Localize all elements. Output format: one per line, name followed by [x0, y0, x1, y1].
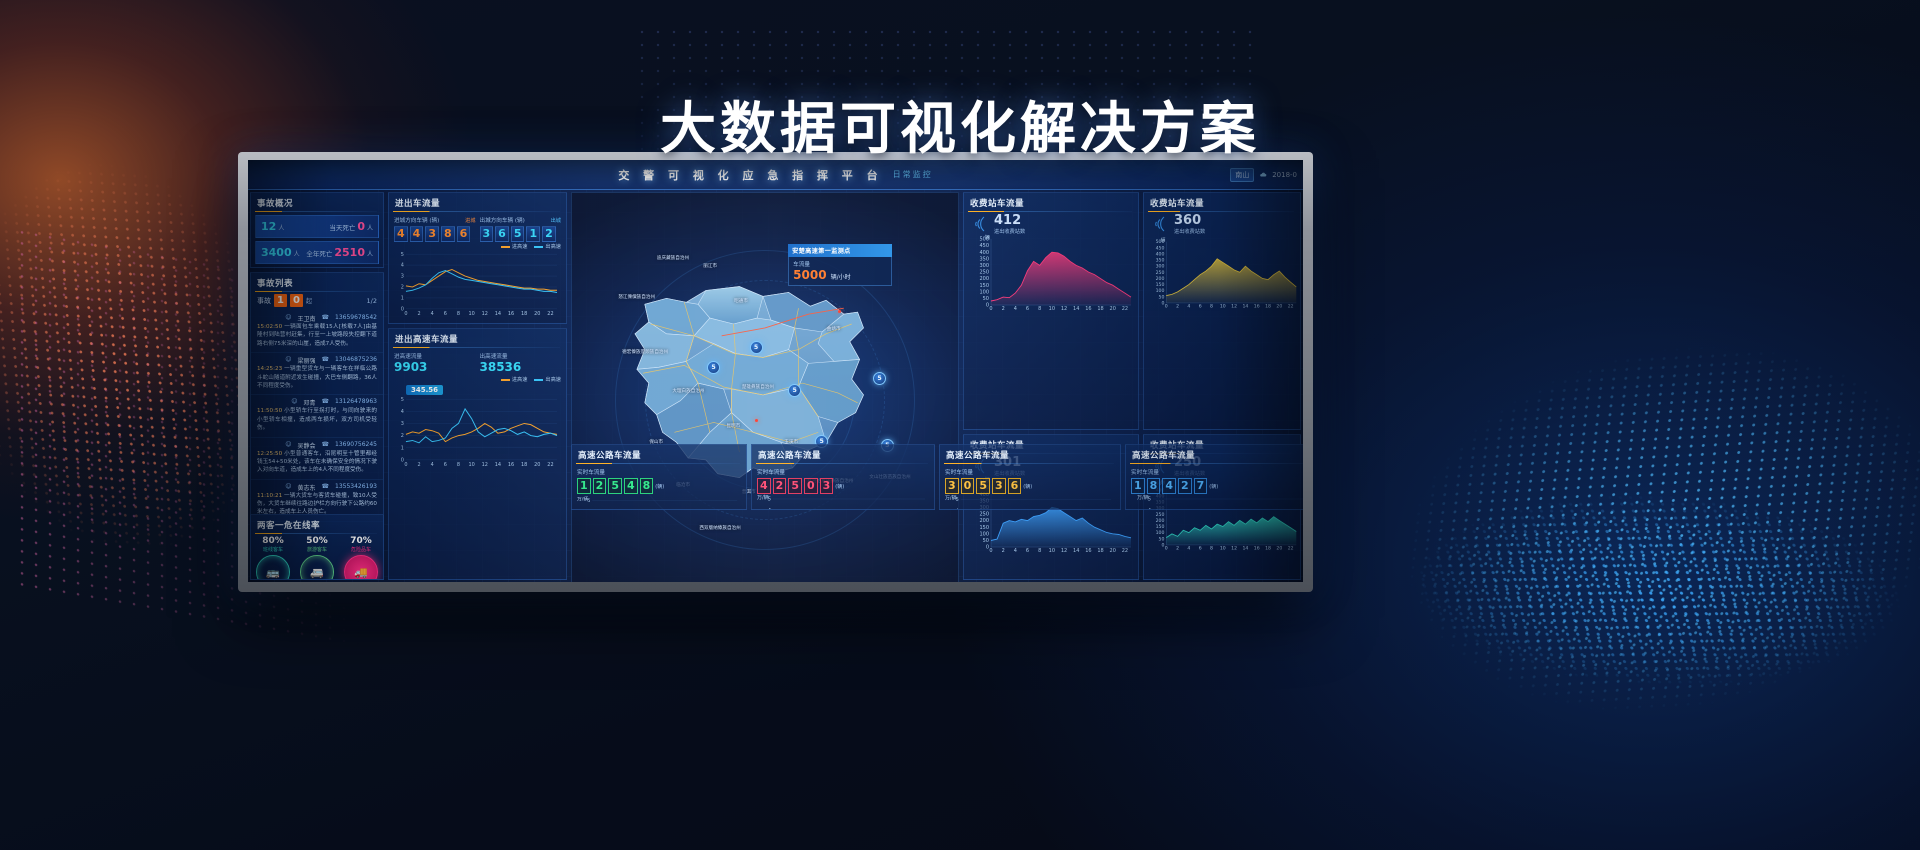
map-tooltip-unit: 辆/小时 — [831, 272, 851, 281]
person-icon: ☺ — [285, 314, 291, 323]
page-background: 大数据可视化解决方案 交 警 可 视 化 应 急 指 挥 平 台 日常监控 南山… — [0, 0, 1920, 850]
svg-text:0: 0 — [989, 306, 992, 312]
header-right-group: 南山 2018-0 — [1230, 168, 1297, 182]
dual-line-chart: 0123450246810121416182022 — [394, 250, 561, 320]
road-metric-label: 实时车流量 — [945, 468, 1115, 476]
svg-text:10: 10 — [1049, 306, 1055, 312]
od-digit: 8 — [441, 226, 455, 242]
decorative-dot-wave-right — [1318, 434, 1920, 767]
map-city-label: 昆明市 — [726, 423, 740, 429]
accident-phone: 13659678542 — [335, 314, 377, 323]
svg-text:6: 6 — [1026, 306, 1029, 312]
svg-text:16: 16 — [1254, 546, 1260, 552]
svg-text:16: 16 — [1254, 304, 1260, 310]
road-chart: 0123450246810121416182022万/辆 — [757, 495, 929, 510]
svg-text:50: 50 — [1159, 536, 1165, 542]
stat-unit2: 人 — [367, 249, 373, 258]
svg-text:万/辆: 万/辆 — [1137, 494, 1149, 501]
od-digit: 8 — [1147, 478, 1161, 494]
svg-text:100: 100 — [979, 289, 989, 295]
stat-year-injured: 3400 人 — [261, 246, 300, 259]
svg-text:16: 16 — [1085, 306, 1091, 312]
phone-icon: ☎ — [322, 398, 329, 407]
counter-value: 9903 — [394, 360, 476, 374]
legend-item-in: 进高速 — [501, 376, 528, 383]
svg-text:200: 200 — [1156, 276, 1165, 282]
bus-icon: 🚌 — [256, 555, 290, 580]
svg-text:50: 50 — [983, 538, 989, 544]
svg-text:50: 50 — [983, 296, 989, 302]
road-title: 高速公路车流量 — [752, 445, 934, 464]
counter-value: 38536 — [480, 360, 562, 374]
gauge-item[interactable]: 50% 旅游客车 🚐 旅游客车总数 6000 — [295, 536, 339, 580]
gauge-name: 旅游客车 — [295, 546, 339, 553]
road-unit: (辆) — [1023, 483, 1032, 490]
svg-text:22: 22 — [1288, 304, 1294, 310]
stat-row-today: 12 人 当天死亡 0 人 — [255, 215, 379, 238]
accident-item-head: ☺邓青☎13126478963 — [257, 398, 377, 407]
accident-count-row: 事故 1 0 起 1/2 — [251, 292, 383, 311]
gauge-name: 危险品车 — [339, 546, 383, 553]
road-odometer: 1 2 5 4 8 (辆) — [577, 478, 741, 494]
od-digit: 8 — [640, 478, 654, 494]
od-digit: 1 — [526, 226, 540, 242]
svg-text:0: 0 — [404, 311, 407, 317]
accident-item-text: 15:02:50 一辆面包车乘载15人[核载7人]由基隆村到陆营村赶集，行至一上… — [257, 323, 377, 348]
stat-label: 全年死亡 — [306, 248, 332, 258]
inout-legend: 进高速 出高速 — [394, 243, 561, 250]
svg-text:12: 12 — [1231, 304, 1237, 310]
svg-text:100: 100 — [1156, 530, 1165, 536]
svg-text:150: 150 — [979, 525, 989, 531]
map-city-label: 楚雄彝族自治州 — [742, 384, 774, 390]
od-digit: 2 — [773, 478, 787, 494]
coach-icon: 🚐 — [300, 555, 334, 580]
toll-value-group: 412 进出收费站数 — [994, 213, 1025, 235]
svg-text:12: 12 — [1061, 548, 1067, 554]
svg-text:0: 0 — [989, 548, 992, 554]
road-metric-label: 实时车流量 — [757, 468, 929, 476]
accident-item[interactable]: ☺梁丽强☎1304687523614:25:23 一辆重型货车与一辆客车在祥临公… — [251, 353, 383, 395]
road-panel-3: 高速公路车流量 实时车流量 3 0 5 3 6 (辆) 012345024681… — [939, 444, 1121, 510]
map-tooltip-row: 5000 辆/小时 — [793, 268, 887, 282]
svg-text:12: 12 — [482, 311, 488, 317]
counter-label: 出城方向车辆 (辆) — [480, 216, 525, 224]
svg-text:6: 6 — [444, 311, 447, 317]
svg-text:4: 4 — [956, 508, 959, 510]
svg-text:18: 18 — [1265, 546, 1271, 552]
map-marker[interactable]: 5 — [707, 361, 720, 374]
gauge-pct: 80% — [251, 536, 295, 546]
stat-unit: 人 — [294, 249, 300, 258]
svg-text:万/辆: 万/辆 — [757, 494, 769, 501]
od-digit: 5 — [511, 226, 525, 242]
road-panel-1: 高速公路车流量 实时车流量 1 2 5 4 8 (辆) 012345024681… — [571, 444, 747, 510]
svg-text:14: 14 — [1073, 548, 1079, 554]
decorative-dot-field-right — [1309, 285, 1920, 835]
truck-icon: 🚚 — [344, 555, 378, 580]
od-digit: 4 — [410, 226, 424, 242]
svg-text:20: 20 — [534, 311, 540, 317]
toll-sub: 进出收费站数 — [1174, 228, 1205, 235]
road-chart: 0123450246810121416182022万/辆 — [577, 495, 741, 510]
person-icon: ☺ — [285, 356, 291, 365]
gauge-name: 班线客车 — [251, 546, 295, 553]
road-odometer: 4 2 5 0 3 (辆) — [757, 478, 929, 494]
svg-text:150: 150 — [1156, 524, 1165, 530]
svg-text:14: 14 — [495, 311, 501, 317]
highway-counter-in: 进高速流量 9903 — [394, 352, 476, 374]
svg-text:10: 10 — [1220, 546, 1226, 552]
legend-item-in: 进高速 — [501, 243, 528, 250]
svg-text:10: 10 — [1220, 304, 1226, 310]
svg-text:4: 4 — [401, 409, 404, 415]
accident-item-head: ☺王卫南☎13659678542 — [257, 314, 377, 323]
stat-value: 12 — [261, 220, 276, 233]
area-chart: 0501001502002503003504004505000246810121… — [964, 235, 1138, 317]
toll-chart: 0501001502002503003504004505000246810121… — [1144, 235, 1300, 317]
svg-text:0: 0 — [1165, 304, 1168, 310]
map-tooltip-body: 车流量 5000 辆/小时 — [788, 257, 892, 286]
legend-item-out: 出高速 — [534, 376, 561, 383]
toll-value: 412 — [994, 213, 1025, 228]
gauge-pct: 50% — [295, 536, 339, 546]
svg-text:8: 8 — [457, 311, 460, 317]
svg-text:5: 5 — [401, 252, 404, 258]
city-chip[interactable]: 南山 — [1230, 168, 1254, 182]
svg-text:10: 10 — [468, 311, 474, 317]
svg-text:400: 400 — [979, 250, 989, 256]
header-date: 2018-0 — [1272, 171, 1297, 179]
svg-text:150: 150 — [1156, 282, 1165, 288]
svg-text:2: 2 — [1002, 548, 1005, 554]
svg-text:万/辆: 万/辆 — [945, 494, 957, 501]
counter-out-head: 出城方向车辆 (辆) 出城 — [480, 216, 562, 224]
svg-text:22: 22 — [1288, 546, 1294, 552]
svg-text:22: 22 — [547, 311, 553, 317]
svg-text:350: 350 — [979, 256, 989, 262]
svg-text:14: 14 — [1242, 546, 1248, 552]
signal-waves-icon — [968, 215, 990, 233]
od-digit: 2 — [593, 478, 607, 494]
svg-text:8: 8 — [1038, 306, 1041, 312]
bottom-spacer — [248, 442, 386, 512]
od-digit: 4 — [624, 478, 638, 494]
accident-count-digit-1: 1 — [274, 294, 287, 307]
map-city-label: 迪庆藏族自治州 — [657, 255, 689, 261]
svg-text:12: 12 — [1061, 306, 1067, 312]
svg-text:200: 200 — [979, 276, 989, 282]
od-digit: 3 — [820, 478, 834, 494]
od-digit: 3 — [992, 478, 1006, 494]
map-city-label: 丽江市 — [703, 263, 717, 269]
svg-text:200: 200 — [1156, 518, 1165, 524]
accident-item[interactable]: ☺王卫南☎1365967854215:02:50 一辆面包车乘载15人[核载7人… — [251, 311, 383, 353]
gauge-item[interactable]: 70% 危险品车 🚚 危险品车总数 5000 — [339, 536, 383, 580]
line-chart: 0123450246810121416182022万/辆 — [757, 495, 929, 510]
svg-text:200: 200 — [979, 518, 989, 524]
toll-chart: 0501001502002503003504004505000246810121… — [964, 235, 1138, 317]
phone-icon: ☎ — [322, 356, 329, 365]
od-digit: 2 — [542, 226, 556, 242]
svg-text:6: 6 — [1199, 546, 1202, 552]
od-digit: 4 — [394, 226, 408, 242]
road-panel-2: 高速公路车流量 实时车流量 4 2 5 0 3 (辆) 012345024681… — [751, 444, 935, 510]
map-city-label: 德宏傣族景颇族自治州 — [622, 349, 668, 355]
highway-chart-tooltip-wrap: 345.56 — [406, 385, 561, 395]
accident-list-title: 事故列表 — [251, 273, 383, 292]
map-tooltip-title: 安楚高速第一监测点 — [788, 244, 892, 257]
svg-text:250: 250 — [1156, 512, 1165, 518]
svg-text:4: 4 — [401, 263, 404, 269]
toll-title: 收费站车流量 — [1144, 193, 1300, 212]
svg-text:4: 4 — [1014, 548, 1017, 554]
svg-text:450: 450 — [979, 243, 989, 249]
road-odometer: 3 0 5 3 6 (辆) — [945, 478, 1115, 494]
svg-text:300: 300 — [1156, 264, 1165, 270]
road-chart: 0123450246810121416182022万/辆 — [945, 495, 1115, 510]
od-digit: 3 — [425, 226, 439, 242]
svg-text:4: 4 — [1187, 304, 1190, 310]
chart-tooltip-badge: 345.56 — [406, 385, 443, 395]
svg-text:2: 2 — [401, 285, 404, 291]
toll-value-group: 360 进出收费站数 — [1174, 213, 1205, 235]
map-city-label: 曲靖市 — [827, 326, 841, 332]
svg-text:6: 6 — [1026, 548, 1029, 554]
map-tooltip-value: 5000 — [793, 268, 826, 282]
svg-text:20: 20 — [1110, 548, 1116, 554]
svg-text:14: 14 — [1073, 306, 1079, 312]
accident-item-text: 14:25:23 一辆重型货车与一辆客车在祥临公路斗蛇山隧道附近发生碰撞，大巴车… — [257, 365, 377, 390]
stat-value: 3400 — [261, 246, 292, 259]
online-rate-panel: 两客一危在线率 80% 班线客车 🚌 班线客车总数 50000 5 — [250, 514, 384, 580]
app-title: 交 警 可 视 化 应 急 指 挥 平 台 — [618, 167, 882, 183]
svg-text:18: 18 — [521, 311, 527, 317]
od-digit: 2 — [1178, 478, 1192, 494]
od-digit: 3 — [945, 478, 959, 494]
toll-value: 360 — [1174, 213, 1205, 228]
odometer-out: 3 6 5 1 2 — [480, 226, 562, 242]
od-digit: 6 — [457, 226, 471, 242]
toll-head: 360 进出收费站数 — [1144, 212, 1300, 235]
map-tooltip-metric: 车流量 — [793, 260, 887, 268]
svg-text:3: 3 — [401, 274, 404, 280]
odometer-in: 4 4 3 8 6 — [394, 226, 476, 242]
od-digit: 5 — [788, 478, 802, 494]
od-digit: 5 — [608, 478, 622, 494]
road-chart: 0123450246810121416182022万/辆 — [1131, 495, 1303, 510]
svg-text:250: 250 — [979, 270, 989, 276]
svg-text:22: 22 — [1122, 548, 1128, 554]
road-metric-label: 实时车流量 — [577, 468, 741, 476]
map-city-label: 怒江傈僳族自治州 — [618, 294, 655, 300]
accident-reporter: 王卫南 — [298, 314, 316, 323]
svg-text:20: 20 — [1110, 306, 1116, 312]
stat-year-dead: 全年死亡 2510 人 — [306, 246, 373, 259]
curved-display-wrapper: 交 警 可 视 化 应 急 指 挥 平 台 日常监控 南山 2018-0 事故概… — [238, 152, 1313, 592]
inout-flow-panel: 进出车流量 进城方向车辆 (辆) 进城 4 — [388, 192, 567, 324]
toll-panel-2: 收费站车流量 360 进出收费站数 0501001502002503003504… — [1143, 192, 1301, 430]
svg-text:300: 300 — [979, 263, 989, 269]
svg-text:2: 2 — [417, 311, 420, 317]
svg-text:100: 100 — [979, 531, 989, 537]
road-title: 高速公路车流量 — [940, 445, 1120, 464]
accident-item-text: 11:50:50 小型轿车行至拐打时，与同向驶来的小型轿车相撞，造成两车损坏，双… — [257, 407, 377, 432]
od-digit: 1 — [577, 478, 591, 494]
svg-text:250: 250 — [979, 512, 989, 518]
svg-text:100: 100 — [1156, 288, 1165, 294]
od-digit: 4 — [757, 478, 771, 494]
od-digit: 6 — [1008, 478, 1022, 494]
dashboard-screen: 交 警 可 视 化 应 急 指 挥 平 台 日常监控 南山 2018-0 事故概… — [248, 160, 1303, 582]
road-odometer: 1 8 4 2 7 (辆) — [1131, 478, 1303, 494]
svg-text:8: 8 — [1210, 304, 1213, 310]
svg-text:50: 50 — [1159, 294, 1165, 300]
counter-badge: 进城 — [465, 217, 475, 224]
svg-text:2: 2 — [401, 433, 404, 439]
mode-tag[interactable]: 日常监控 — [893, 169, 933, 180]
accident-count-digit-2: 0 — [290, 294, 303, 307]
road-body: 实时车流量 3 0 5 3 6 (辆) 01234502468101214161… — [940, 464, 1120, 510]
accident-item[interactable]: ☺邓青☎1312647896311:50:50 小型轿车行至拐打时，与同向驶来的… — [251, 395, 383, 437]
road-title: 高速公路车流量 — [1126, 445, 1303, 464]
line-chart: 0123450246810121416182022万/辆 — [945, 495, 1115, 510]
map-column: 5 5 5 5 5 5 昭通市 曲靖市 昆明市 大理白族自治州 楚雄彝族自治州 — [569, 190, 961, 582]
accident-reporter: 邓青 — [304, 398, 316, 407]
counter-in: 进城方向车辆 (辆) 进城 4 4 3 8 6 — [394, 216, 476, 243]
stat-row-year: 3400 人 全年死亡 2510 人 — [255, 241, 379, 264]
accident-pagination[interactable]: 1/2 — [367, 297, 377, 305]
counter-label: 出高速流量 — [480, 352, 562, 360]
inout-counters: 进城方向车辆 (辆) 进城 4 4 3 8 6 — [394, 216, 561, 243]
od-digit: 1 — [1131, 478, 1145, 494]
svg-text:4: 4 — [1187, 546, 1190, 552]
svg-text:2: 2 — [1176, 546, 1179, 552]
svg-text:20: 20 — [1276, 304, 1282, 310]
svg-text:3: 3 — [401, 421, 404, 427]
svg-text:万/辆: 万/辆 — [577, 496, 588, 503]
flow-column: 进出车流量 进城方向车辆 (辆) 进城 4 — [386, 190, 569, 582]
accident-count-unit: 起 — [306, 296, 312, 305]
svg-text:400: 400 — [1156, 251, 1165, 257]
od-digit: 4 — [1162, 478, 1176, 494]
map-city-label: 大理白族自治州 — [672, 388, 704, 394]
toll-head: 412 进出收费站数 — [964, 212, 1138, 235]
accident-overview-title: 事故概况 — [251, 193, 383, 212]
accident-item-head: ☺梁丽强☎13046875236 — [257, 356, 377, 365]
highway-legend: 进高速 出高速 — [394, 376, 561, 383]
svg-text:18: 18 — [1097, 306, 1103, 312]
svg-text:20: 20 — [1276, 546, 1282, 552]
toll-title: 收费站车流量 — [964, 193, 1138, 212]
svg-text:2: 2 — [1002, 306, 1005, 312]
od-digit: 7 — [1194, 478, 1208, 494]
gauge-item[interactable]: 80% 班线客车 🚌 班线客车总数 50000 — [251, 536, 295, 580]
map-panel[interactable]: 5 5 5 5 5 5 昭通市 曲靖市 昆明市 大理白族自治州 楚雄彝族自治州 — [571, 192, 959, 582]
counter-label: 进城方向车辆 (辆) — [394, 216, 439, 224]
svg-text:150: 150 — [979, 283, 989, 289]
svg-text:辆: 辆 — [1161, 237, 1166, 244]
bottom-spacer-2 — [386, 442, 569, 512]
svg-text:4: 4 — [768, 508, 771, 510]
map-city-label: 西双版纳傣族自治州 — [699, 525, 740, 531]
highway-counter-out: 出高速流量 38536 — [480, 352, 562, 374]
od-digit: 0 — [804, 478, 818, 494]
area-chart: 0501001502002503003504004505000246810121… — [1144, 235, 1300, 317]
highway-flow-title: 进出高速车流量 — [389, 329, 566, 348]
svg-text:4: 4 — [1014, 306, 1017, 312]
svg-text:18: 18 — [1265, 304, 1271, 310]
road-body: 实时车流量 1 8 4 2 7 (辆) 01234502468101214161… — [1126, 464, 1303, 510]
road-body: 实时车流量 1 2 5 4 8 (辆) 01234502468101214161… — [572, 464, 746, 510]
svg-text:16: 16 — [508, 311, 514, 317]
svg-text:5: 5 — [401, 397, 404, 403]
dashboard-board: 交 警 可 视 化 应 急 指 挥 平 台 日常监控 南山 2018-0 事故概… — [248, 160, 1303, 582]
svg-text:10: 10 — [1049, 548, 1055, 554]
svg-text:4: 4 — [431, 311, 434, 317]
map-city-label: 昭通市 — [734, 298, 748, 304]
svg-text:12: 12 — [1231, 546, 1237, 552]
accident-overview-panel: 事故概况 12 人 当天死亡 0 人 — [250, 192, 384, 268]
line-chart: 0123450246810121416182022万/辆 — [577, 495, 741, 510]
stat-today-dead: 当天死亡 0 人 — [329, 220, 373, 233]
accident-time: 11:50:50 — [257, 408, 284, 414]
map-tooltip: 安楚高速第一监测点 车流量 5000 辆/小时 — [788, 244, 892, 286]
stat-label: 当天死亡 — [329, 222, 355, 232]
inout-flow-chart: 0123450246810121416182022 — [394, 250, 561, 320]
road-panel-4: 高速公路车流量 实时车流量 1 8 4 2 7 (辆) 012345024681… — [1125, 444, 1303, 510]
line-chart: 0123450246810121416182022万/辆 — [1131, 495, 1303, 510]
online-rate-title: 两客一危在线率 — [251, 515, 383, 534]
road-body: 实时车流量 4 2 5 0 3 (辆) 01234502468101214161… — [752, 464, 934, 510]
legend-item-out: 出高速 — [534, 243, 561, 250]
counter-out: 出城方向车辆 (辆) 出城 3 6 5 1 2 — [480, 216, 562, 243]
toll-panel-1: 收费站车流量 412 进出收费站数 0501001502002503003504… — [963, 192, 1139, 430]
accident-count-label: 事故 — [257, 296, 271, 306]
od-digit: 5 — [976, 478, 990, 494]
counter-label: 进高速流量 — [394, 352, 476, 360]
svg-text:1: 1 — [401, 296, 404, 302]
svg-text:450: 450 — [1156, 245, 1165, 251]
hero-title: 大数据可视化解决方案 — [0, 84, 1920, 165]
counter-in-head: 进城方向车辆 (辆) 进城 — [394, 216, 476, 224]
svg-text:2: 2 — [1176, 304, 1179, 310]
svg-text:4: 4 — [587, 509, 590, 510]
accident-time: 15:02:50 — [257, 324, 284, 330]
od-digit: 3 — [480, 226, 494, 242]
counter-badge: 出城 — [551, 217, 561, 224]
road-unit: (辆) — [835, 483, 844, 490]
accident-phone: 13046875236 — [335, 356, 377, 365]
road-title: 高速公路车流量 — [572, 445, 746, 464]
od-digit: 6 — [495, 226, 509, 242]
road-unit: (辆) — [655, 483, 664, 490]
person-icon: ☺ — [291, 398, 297, 407]
phone-icon: ☎ — [322, 314, 329, 323]
cloud-icon — [1259, 171, 1267, 179]
accident-phone: 13126478963 — [335, 398, 377, 407]
stat-value2: 2510 — [334, 246, 365, 259]
gauge-group: 80% 班线客车 🚌 班线客车总数 50000 50% 旅游客车 — [251, 534, 383, 580]
road-metric-label: 实时车流量 — [1131, 468, 1303, 476]
stat-unit2: 人 — [367, 223, 373, 232]
toll-sub: 进出收费站数 — [994, 228, 1025, 235]
signal-waves-icon — [1148, 215, 1170, 233]
map-marker[interactable]: 5 — [750, 341, 763, 354]
stat-today-injured: 12 人 — [261, 220, 284, 233]
svg-text:350: 350 — [1156, 258, 1165, 264]
gauge-pct: 70% — [339, 536, 383, 546]
